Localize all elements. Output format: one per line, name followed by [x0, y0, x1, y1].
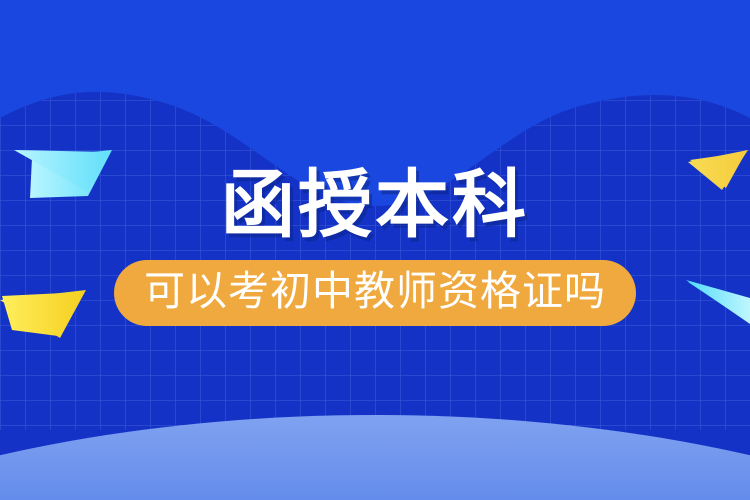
banner-content: 函授本科 可以考初中教师资格证吗: [0, 0, 750, 500]
page-title: 函授本科: [221, 168, 529, 242]
subtitle-pill: 可以考初中教师资格证吗: [114, 260, 636, 326]
subtitle-text: 可以考初中教师资格证吗: [144, 271, 606, 312]
banner-root: 函授本科 可以考初中教师资格证吗: [0, 0, 750, 500]
title-block: 函授本科: [221, 168, 529, 242]
